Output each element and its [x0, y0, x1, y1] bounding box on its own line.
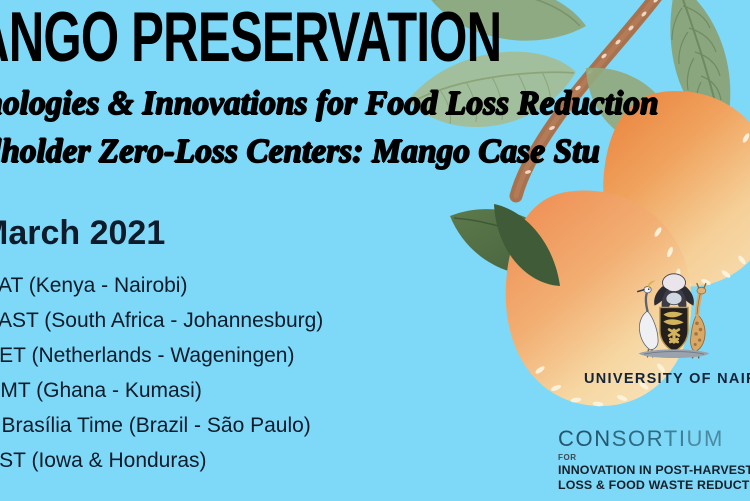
consortium-for-label: FOR — [558, 452, 750, 463]
leaf-veined-tall — [670, 0, 730, 136]
university-name: UNIVERSITY OF NAIROBI — [584, 371, 750, 387]
slide-canvas: ANGO PRESERVATION hnologies & Innovation… — [0, 0, 750, 501]
subtitle-line-1: hnologies & Innovations for Food Loss Re… — [0, 86, 659, 122]
event-date: March 2021 — [0, 214, 165, 252]
leaf-dark-lower — [450, 209, 574, 275]
crest-shield — [660, 307, 688, 351]
leaf-dark-mid — [494, 204, 560, 286]
consortium-word-part-3: TI — [664, 426, 687, 451]
crest-giraffe-icon — [691, 284, 706, 358]
consortium-tagline-1: INNOVATION IN POST-HARVEST — [558, 463, 750, 478]
list-item: SAST (South Africa - Johannesburg) — [0, 303, 323, 338]
consortium-word-part-2: SOR — [612, 426, 664, 451]
university-logo: UNIVERSITY OF NAIROBI — [584, 272, 750, 387]
list-item: EAT (Kenya - Nairobi) — [0, 268, 323, 303]
list-item: GMT (Ghana - Kumasi) — [0, 373, 323, 408]
list-item: CET (Netherlands - Wageningen) — [0, 338, 323, 373]
page-title: ANGO PRESERVATION — [0, 2, 501, 73]
crest-crane-icon — [638, 281, 658, 357]
consortium-logo: CONSORTIUM FOR INNOVATION IN POST-HARVES… — [558, 427, 750, 493]
university-crest-icon — [621, 272, 727, 364]
consortium-word-part-1: CON — [558, 426, 612, 451]
consortium-wordmark: CONSORTIUM — [558, 427, 750, 451]
consortium-tagline-2: LOSS & FOOD WASTE REDUCTION — [558, 478, 750, 493]
timezone-list: EAT (Kenya - Nairobi) SAST (South Africa… — [0, 268, 323, 478]
list-item: CST (Iowa & Honduras) — [0, 443, 323, 478]
list-item: n Brasília Time (Brazil - São Paulo) — [0, 408, 323, 443]
subtitle-line-2: allholder Zero-Loss Centers: Mango Case … — [0, 134, 600, 170]
consortium-word-part-4: UM — [687, 426, 724, 451]
